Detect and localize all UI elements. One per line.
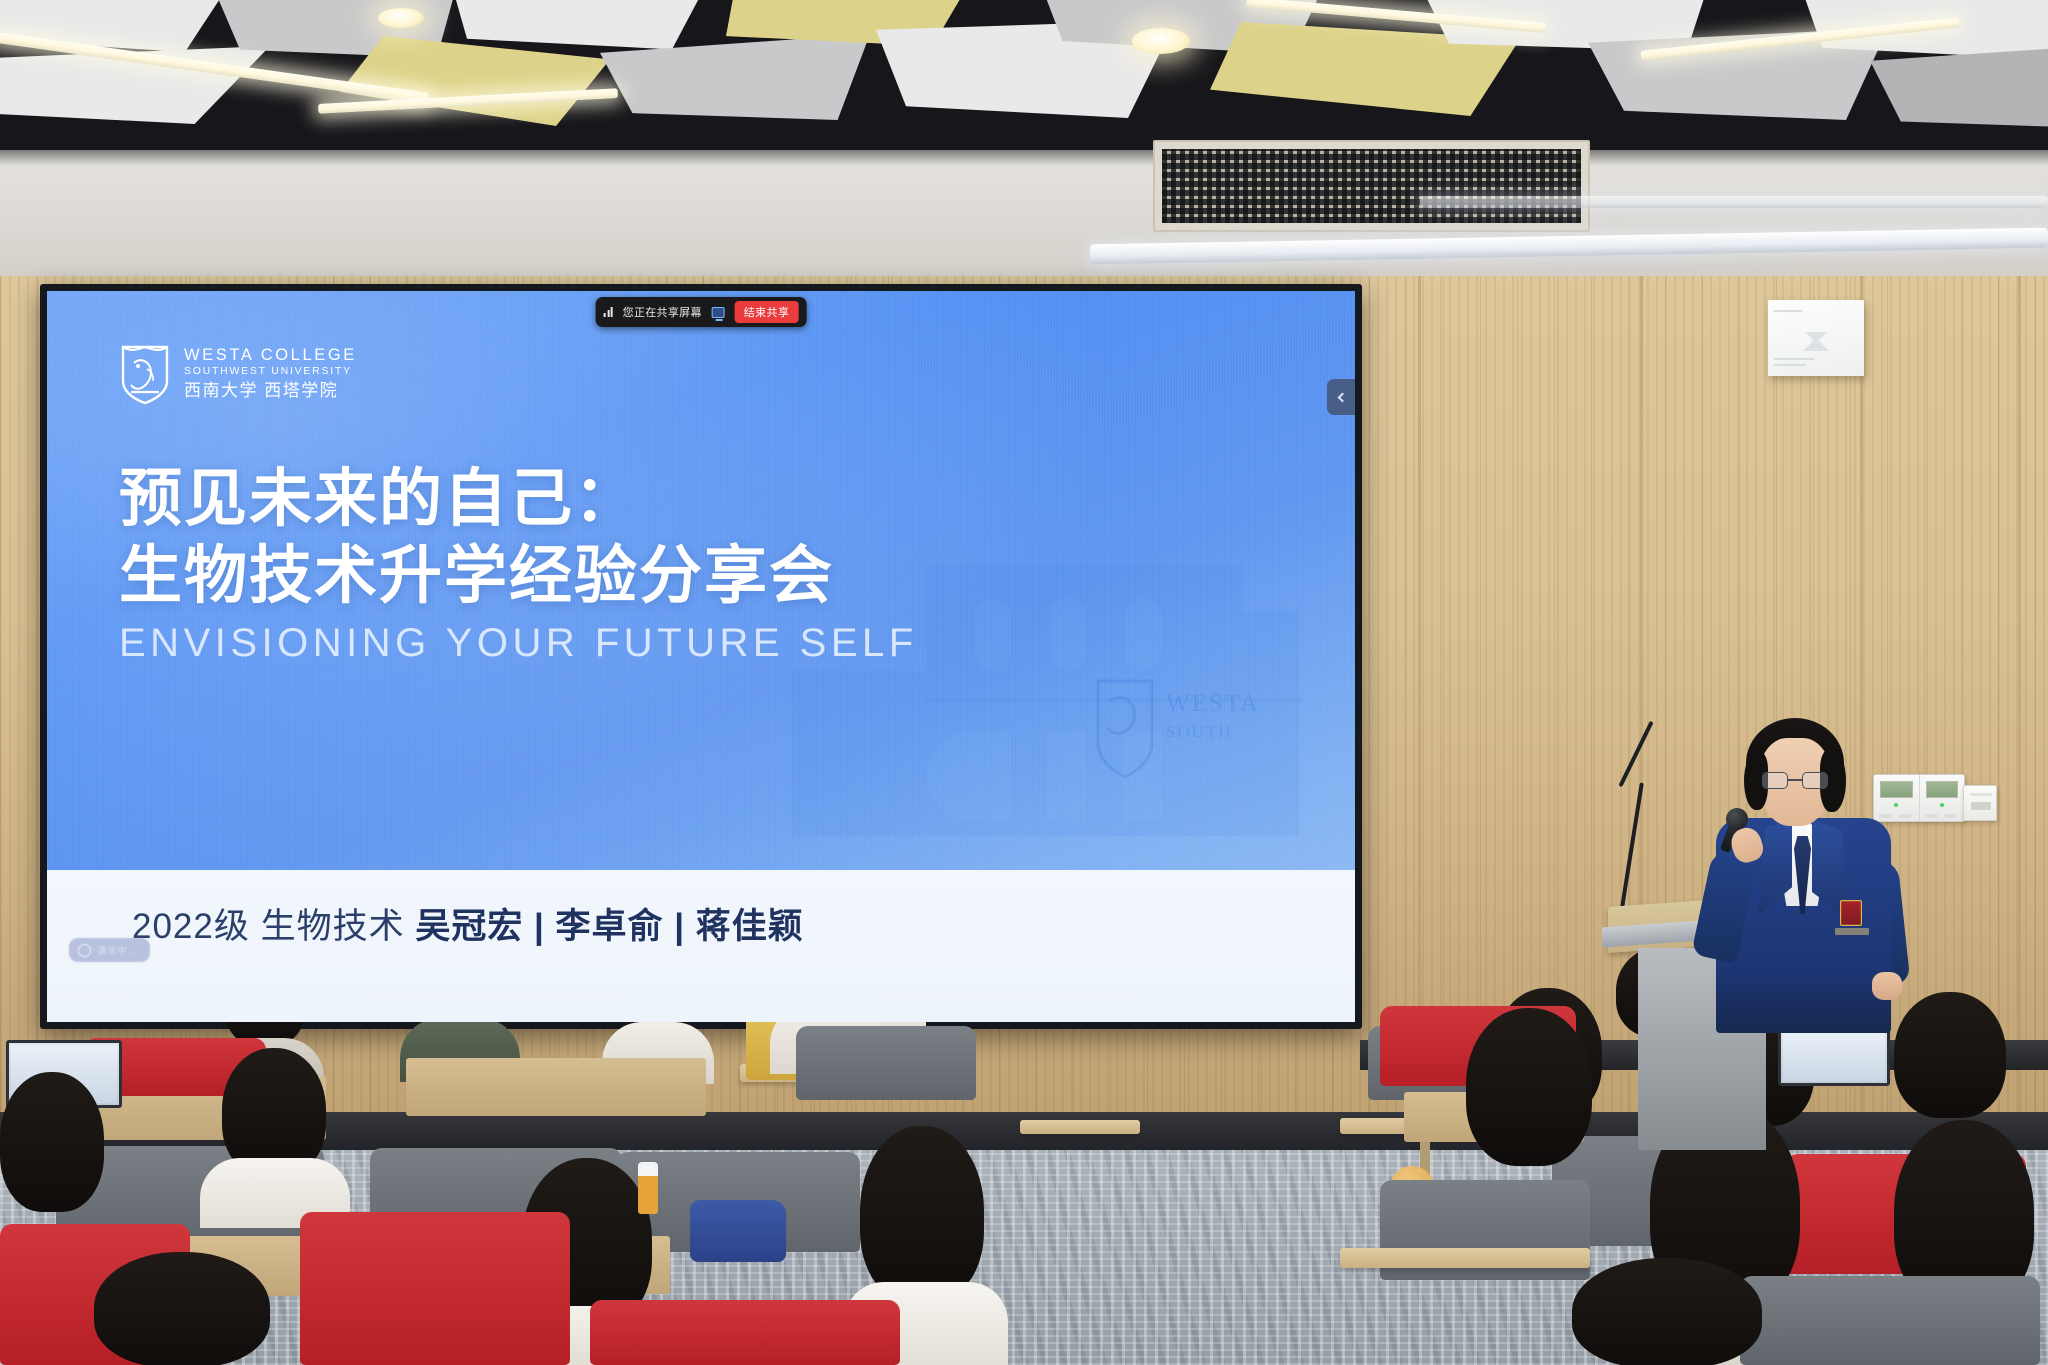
notice-line xyxy=(1774,358,1814,360)
screen-share-toolbar[interactable]: 您正在共享屏幕 结束共享 xyxy=(596,297,807,327)
slide-footer-text: 2022级 生物技术 吴冠宏 | 李卓俞 | 蒋佳颖 xyxy=(132,898,804,949)
slide-footer-band: 2022级 生物技术 吴冠宏 | 李卓俞 | 蒋佳颖 演示中... xyxy=(47,870,1355,1022)
recessed-downlight xyxy=(378,8,424,28)
slide-title-block: 预见未来的自己： 生物技术升学经验分享会 ENVISIONING YOUR FU… xyxy=(119,461,918,666)
presentation-status-label: 演示中... xyxy=(97,943,137,957)
school-crest-badge xyxy=(1840,900,1862,926)
seat-red[interactable] xyxy=(590,1300,900,1365)
handheld-microphone-icon xyxy=(1726,808,1748,830)
chevron-left-icon xyxy=(1338,392,1348,402)
ceiling-panel xyxy=(1870,46,2048,128)
speaker-hand-right xyxy=(1872,972,1902,1000)
hvac-vent xyxy=(1153,140,1590,232)
footer-class-major: 2022级 生物技术 xyxy=(132,907,415,946)
svg-text:WESTA: WESTA xyxy=(1166,690,1260,717)
logo-chinese-name: 西南大学 西塔学院 xyxy=(184,381,357,401)
notice-line xyxy=(1774,364,1806,366)
wps-presentation-icon xyxy=(78,944,91,957)
westa-college-logo: WESTA COLLEGE SOUTHWEST UNIVERSITY 西南大学 … xyxy=(119,343,357,405)
audience-member xyxy=(74,1252,304,1365)
vent-grille xyxy=(1162,149,1581,223)
seat-red[interactable] xyxy=(300,1212,570,1365)
notice-line xyxy=(1774,310,1802,312)
desk xyxy=(1020,1120,1140,1134)
person-hair xyxy=(1572,1258,1762,1365)
stop-share-button[interactable]: 结束共享 xyxy=(735,301,799,323)
recessed-downlight xyxy=(1132,28,1190,54)
backpack-icon[interactable] xyxy=(690,1200,786,1262)
share-status-label: 您正在共享屏幕 xyxy=(623,304,702,320)
light-switch-plate[interactable] xyxy=(1963,785,1997,821)
wall-seam xyxy=(1418,276,1421,1116)
seat-base xyxy=(406,1058,706,1116)
switch-rocker-icon[interactable] xyxy=(1971,802,1991,810)
badge-text xyxy=(1835,928,1869,935)
person-hair xyxy=(222,1048,326,1176)
person-hair xyxy=(0,1072,104,1212)
wall-seam xyxy=(2018,276,2021,1116)
audience-member xyxy=(200,1048,350,1218)
ceiling-panel-yellow xyxy=(340,36,610,126)
ceiling-panel xyxy=(452,0,702,52)
desk xyxy=(1340,1248,1590,1268)
audience-member xyxy=(1554,1258,1794,1365)
speaker-presenter xyxy=(1680,700,1930,1030)
person-hair xyxy=(94,1252,270,1365)
audience-member xyxy=(0,1072,140,1242)
logo-english-name: WESTA COLLEGE xyxy=(184,347,357,364)
westa-crest-icon xyxy=(119,343,171,405)
projection-screen[interactable]: WESTA SOUTH 您正在共享屏幕 结束共享 xyxy=(47,291,1355,1022)
monitor-share-icon[interactable] xyxy=(712,307,725,318)
notice-diamond-icon xyxy=(1805,332,1827,354)
svg-text:SOUTH: SOUTH xyxy=(1166,722,1233,741)
slide-subtitle-en: ENVISIONING YOUR FUTURE SELF xyxy=(119,621,918,666)
person-hair xyxy=(860,1126,984,1302)
thermostat-lcd xyxy=(1926,781,1959,798)
thermostat-button[interactable] xyxy=(1944,814,1957,818)
ceiling-shadow xyxy=(0,150,2048,166)
crest-watermark-icon: WESTA SOUTH xyxy=(1080,671,1290,791)
logo-english-sub: SOUTHWEST UNIVERSITY xyxy=(184,365,357,378)
audience-member xyxy=(1448,1008,1618,1208)
ceiling xyxy=(0,0,2048,152)
lecture-hall-scene: WESTA SOUTH 您正在共享屏幕 结束共享 xyxy=(0,0,2048,1365)
slide-title-line-1: 预见未来的自己： xyxy=(119,461,918,538)
eyeglasses-icon xyxy=(1762,772,1828,789)
wall-notice-board xyxy=(1768,300,1864,376)
footer-presenters: 吴冠宏 | 李卓俞 | 蒋佳颖 xyxy=(415,907,803,946)
person-hair xyxy=(1466,1008,1592,1166)
signal-bars-icon xyxy=(604,307,613,317)
status-led-icon xyxy=(1940,803,1944,807)
seat-gray[interactable] xyxy=(796,1026,976,1100)
upper-wall xyxy=(0,150,2048,280)
projection-screen-frame: WESTA SOUTH 您正在共享屏幕 结束共享 xyxy=(40,284,1362,1029)
presentation-status-badge[interactable]: 演示中... xyxy=(69,938,150,962)
slide-title-line-2: 生物技术升学经验分享会 xyxy=(119,538,918,615)
switch-label xyxy=(1970,793,1992,796)
cove-light xyxy=(1420,196,2048,208)
panel-collapse-handle[interactable] xyxy=(1327,379,1355,415)
water-bottle-icon[interactable] xyxy=(638,1162,658,1214)
